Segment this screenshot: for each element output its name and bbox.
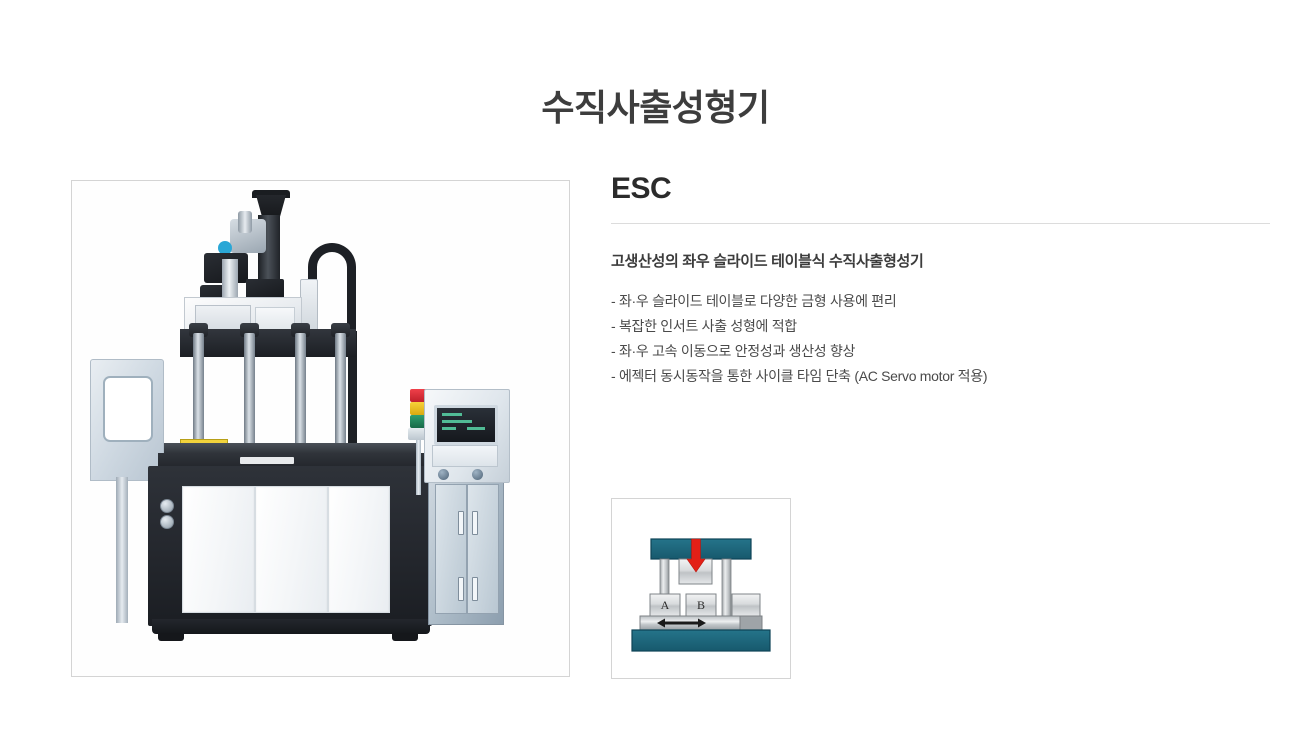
base-panel [255,486,328,613]
tie-bar [193,333,204,445]
diagram-table-b-label: B [697,598,705,612]
operation-diagram: A B [612,499,790,678]
safety-guard-window [103,376,153,442]
base-valve-knob [160,499,174,513]
stack-light-pole [416,439,421,495]
cabinet-door [467,484,499,614]
cabinet-handle [458,577,464,601]
cabinet-handle [472,511,478,535]
control-panel-keypad [432,445,498,467]
diagram-table-a-label: A [661,598,670,612]
cabinet-door [435,484,467,614]
machine-illustration: DK✦ [72,181,570,677]
product-photo: DK✦ [72,181,569,676]
product-subtitle: 고생산성의 좌우 슬라이드 테이블식 수직사출형성기 [611,250,1271,271]
feed-cylinder [238,211,252,233]
feature-item: - 좌·우 고속 이동으로 안정성과 생산성 향상 [611,339,1271,364]
feature-item: - 에젝터 동시동작을 통한 사이클 타임 단축 (AC Servo motor… [611,364,1271,389]
operation-diagram-frame: A B [611,498,791,679]
base-valve-knob [160,515,174,529]
base-panel [328,486,390,613]
feature-item: - 복잡한 인서트 사출 성형에 적합 [611,314,1271,339]
electrical-cabinet [428,473,504,625]
diagram-top-platen [651,539,751,559]
control-panel-knob [472,469,483,480]
tie-bar [335,333,346,445]
page-title: 수직사출성형기 [0,79,1311,131]
tie-bar [244,333,255,445]
control-panel-knob [438,469,449,480]
model-name: ESC [611,172,1271,205]
cabinet-handle [458,511,464,535]
safety-guard [90,359,164,481]
product-info: ESC 고생산성의 좌우 슬라이드 테이블식 수직사출형성기 - 좌·우 슬라이… [611,172,1271,389]
control-panel-screen [434,405,498,445]
diagram-guide-column [722,559,731,622]
safety-guard-post [116,477,128,623]
base-foot [158,633,184,641]
diagram-table-c [732,594,760,616]
housing-button-row [255,307,295,331]
base-panel [182,486,255,613]
title-divider [611,223,1270,224]
tie-bar [295,333,306,445]
base-foot-rail [152,619,430,634]
deck-nameplate [240,457,294,464]
diagram-rail-end [740,616,762,630]
feature-item: - 좌·우 슬라이드 테이블로 다양한 금형 사용에 편리 [611,289,1271,314]
product-photo-frame: DK✦ [71,180,570,677]
base-foot [392,633,418,641]
feature-list: - 좌·우 슬라이드 테이블로 다양한 금형 사용에 편리 - 복잡한 인서트 … [611,289,1271,389]
cabinet-handle [472,577,478,601]
diagram-base-platen [632,630,770,651]
